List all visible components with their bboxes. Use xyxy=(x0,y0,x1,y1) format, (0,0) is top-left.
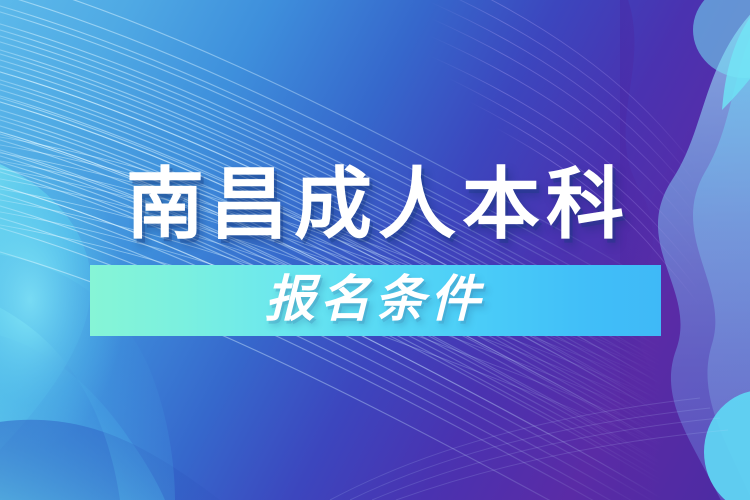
promo-banner: 南昌成人本科 报名条件 xyxy=(0,0,750,500)
banner-content: 南昌成人本科 报名条件 xyxy=(0,0,750,500)
subtitle-highlight-bar: 报名条件 xyxy=(90,265,661,336)
banner-subtitle: 报名条件 xyxy=(265,274,485,327)
banner-title: 南昌成人本科 xyxy=(126,165,630,243)
